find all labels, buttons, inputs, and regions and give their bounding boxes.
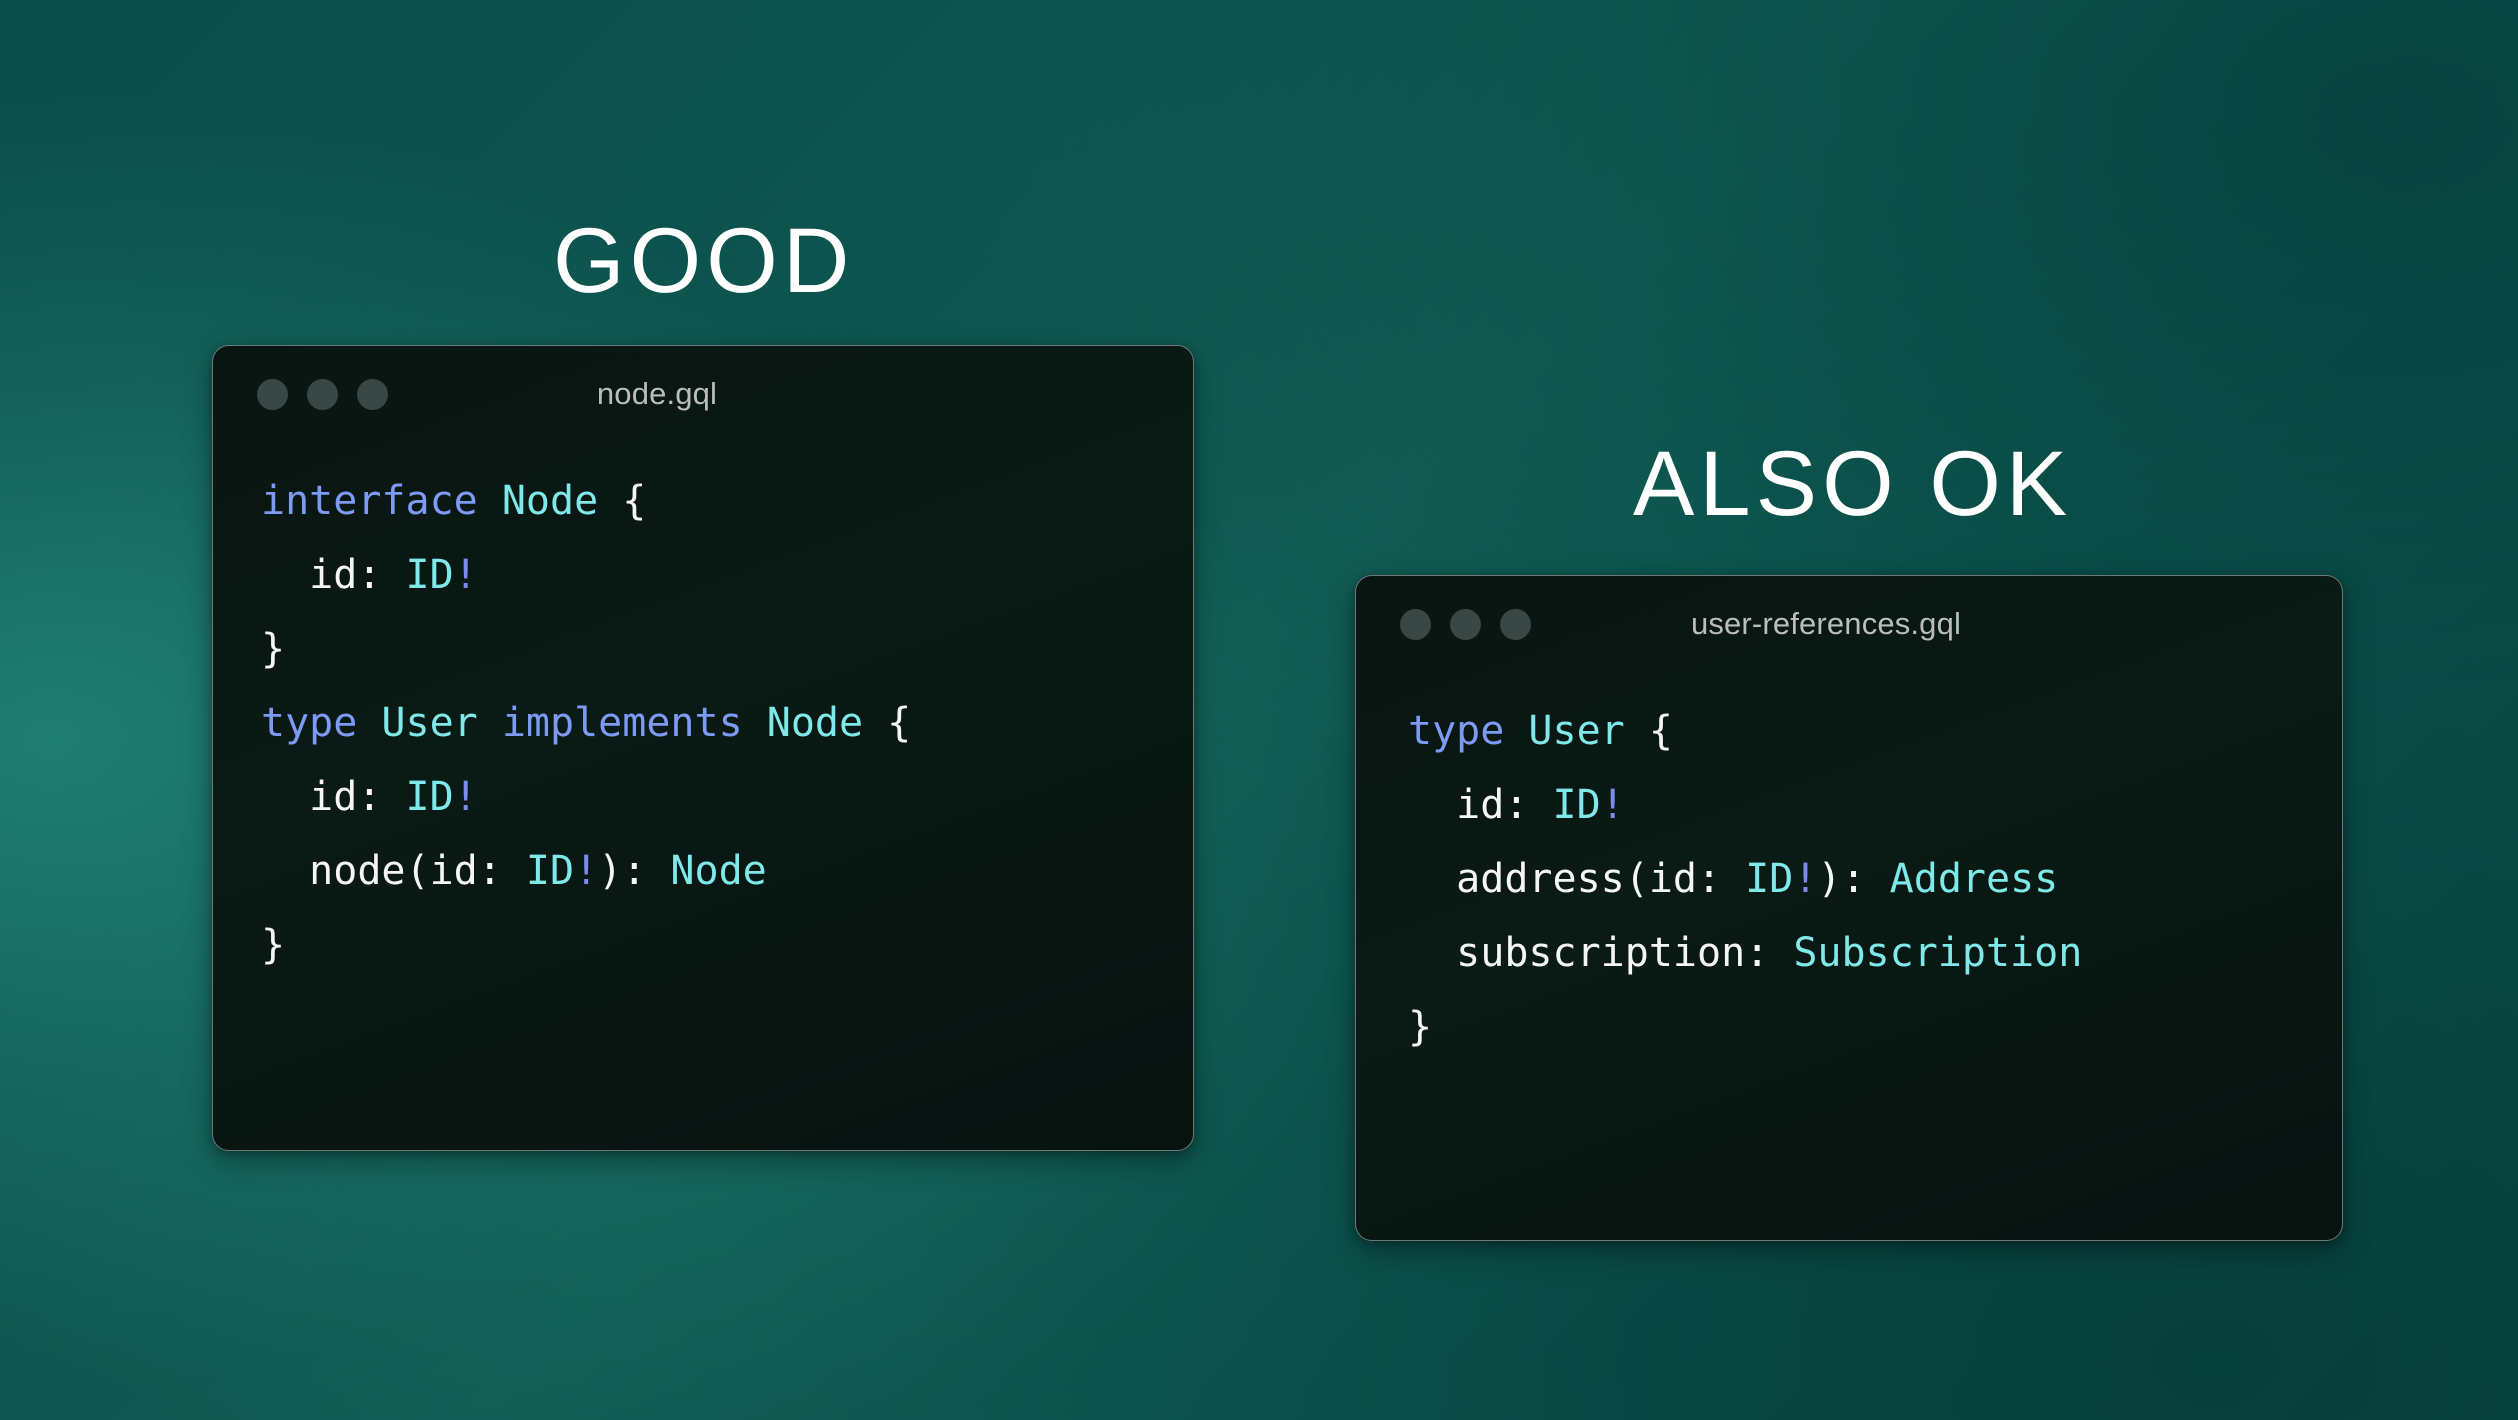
code-token: { (1625, 708, 1673, 754)
code-token: id: (261, 552, 406, 598)
code-token: } (261, 922, 285, 968)
code-token: subscription: (1408, 930, 1793, 976)
code-token: ): (598, 848, 670, 894)
code-line: id: ID! (261, 760, 1193, 834)
code-token: ! (454, 552, 478, 598)
maximize-dot-icon[interactable] (357, 379, 388, 410)
window-titlebar: user-references.gql (1356, 576, 2342, 672)
code-content-good[interactable]: interface Node { id: ID!}type User imple… (213, 442, 1193, 982)
code-line: type User { (1408, 694, 2342, 768)
code-line: subscription: Subscription (1408, 916, 2342, 990)
code-line: node(id: ID!): Node (261, 834, 1193, 908)
code-token: User (1528, 708, 1624, 754)
code-line: } (261, 612, 1193, 686)
code-token: Node (670, 848, 766, 894)
code-token: User (381, 700, 477, 746)
code-content-alsook[interactable]: type User { id: ID! address(id: ID!): Ad… (1356, 672, 2342, 1064)
maximize-dot-icon[interactable] (1500, 609, 1531, 640)
minimize-dot-icon[interactable] (307, 379, 338, 410)
code-token: ): (1817, 856, 1889, 902)
code-token: } (1408, 1004, 1432, 1050)
code-token: } (261, 626, 285, 672)
minimize-dot-icon[interactable] (1450, 609, 1481, 640)
code-token: { (598, 478, 646, 524)
code-line: } (1408, 990, 2342, 1064)
code-token: ! (574, 848, 598, 894)
code-token: id: (1408, 782, 1553, 828)
code-line: id: ID! (261, 538, 1193, 612)
close-dot-icon[interactable] (257, 379, 288, 410)
code-token: { (863, 700, 911, 746)
code-token: Node (767, 700, 863, 746)
code-token: ID (1745, 856, 1793, 902)
panel-heading-good: GOOD (553, 215, 854, 307)
code-token: type (1408, 708, 1528, 754)
code-token: type (261, 700, 381, 746)
code-line: type User implements Node { (261, 686, 1193, 760)
code-line: address(id: ID!): Address (1408, 842, 2342, 916)
code-token (478, 700, 502, 746)
code-token: node(id: (261, 848, 526, 894)
window-controls (257, 379, 388, 410)
code-window-good: node.gql interface Node { id: ID!}type U… (212, 345, 1194, 1151)
code-window-alsook: user-references.gql type User { id: ID! … (1355, 575, 2343, 1241)
code-line: } (261, 908, 1193, 982)
code-token: Node (502, 478, 598, 524)
code-line: id: ID! (1408, 768, 2342, 842)
panel-heading-alsook: ALSO OK (1633, 438, 2072, 530)
code-token: Address (1890, 856, 2059, 902)
code-token: ! (454, 774, 478, 820)
code-token: implements (502, 700, 767, 746)
code-token: ! (1601, 782, 1625, 828)
code-token: Subscription (1793, 930, 2082, 976)
code-token: ID (406, 774, 454, 820)
code-token: ID (526, 848, 574, 894)
code-line: interface Node { (261, 464, 1193, 538)
window-titlebar: node.gql (213, 346, 1193, 442)
code-token: ID (406, 552, 454, 598)
comparison-stage: GOOD node.gql interface Node { id: ID!}t… (0, 0, 2518, 1420)
close-dot-icon[interactable] (1400, 609, 1431, 640)
code-token: ! (1793, 856, 1817, 902)
window-controls (1400, 609, 1531, 640)
code-token: interface (261, 478, 502, 524)
code-token: ID (1553, 782, 1601, 828)
code-token: id: (261, 774, 406, 820)
code-token: address(id: (1408, 856, 1745, 902)
